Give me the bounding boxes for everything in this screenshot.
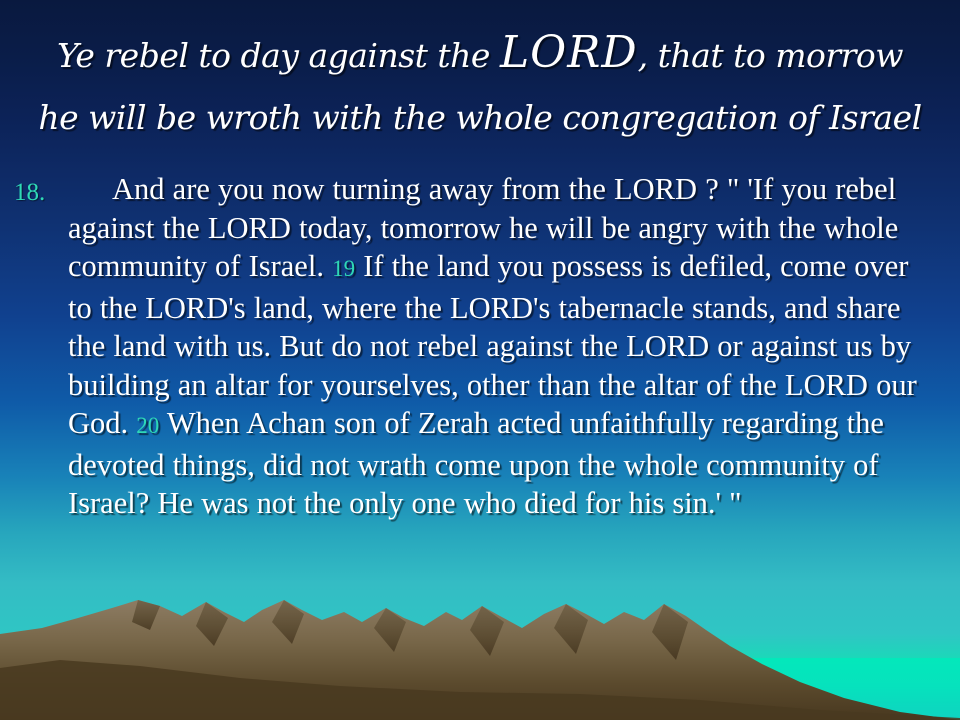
title-line-1: Ye rebel to day against the LORD, that t… <box>0 22 960 87</box>
verse-number-20: 20 <box>136 413 159 438</box>
mountain-range-graphic <box>0 560 960 720</box>
verse-list-marker: 18. <box>14 179 45 207</box>
verse-number-19: 19 <box>332 256 355 281</box>
verse-text-segment-3: When Achan son of Zerah acted unfaithful… <box>68 406 884 520</box>
verse-text-paragraph: And are you now turning away from the LO… <box>0 170 960 523</box>
title-lord-word: LORD <box>500 27 638 78</box>
slide-title: Ye rebel to day against the LORD, that t… <box>0 22 960 149</box>
title-line-1-pre: Ye rebel to day against the <box>57 36 500 75</box>
verse-body-container: 18. And are you now turning away from th… <box>0 170 960 523</box>
title-line-1-post: , that to morrow <box>638 36 903 75</box>
title-line-2: he will be wroth with the whole congrega… <box>0 87 960 149</box>
presentation-slide: Ye rebel to day against the LORD, that t… <box>0 0 960 720</box>
